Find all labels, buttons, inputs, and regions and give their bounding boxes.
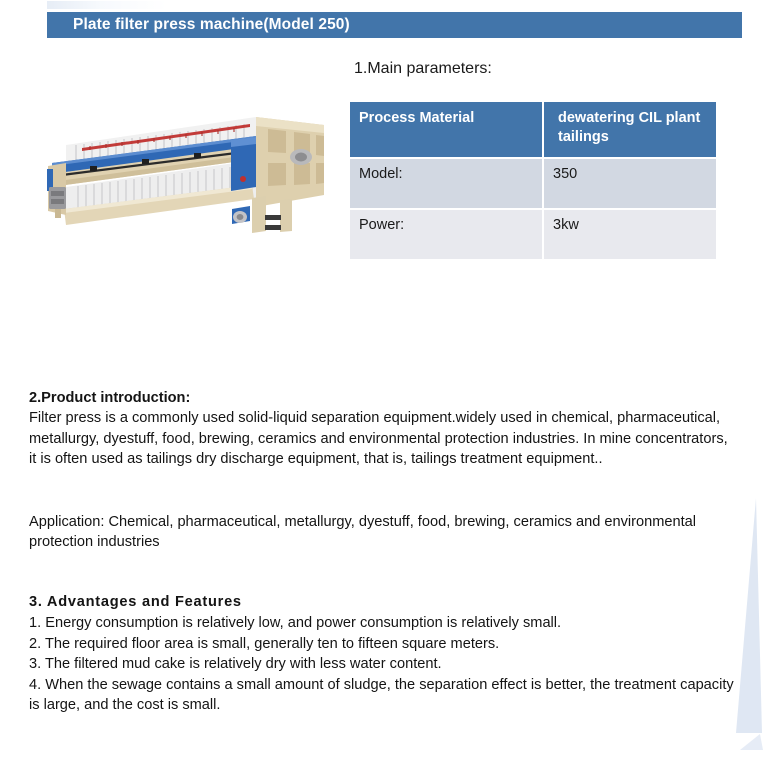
application-body: Application: Chemical, pharmaceutical, m… [29,514,696,550]
table-row: Power: 3kw [349,209,717,260]
table-header-dewatering-cil-plant-tailings: dewatering CIL plant tailings [543,101,717,158]
page-title: Plate filter press machine(Model 250) [73,16,350,34]
advantages-section: 3. Advantages and Features 1. Energy con… [29,592,735,715]
product-image [24,103,336,237]
product-introduction-section: 2.Product introduction: Filter press is … [29,388,729,470]
table-header-row: Process Material dewatering CIL plant ta… [349,101,717,158]
main-parameters-table: Process Material dewatering CIL plant ta… [348,100,718,261]
page-title-bar: Plate filter press machine(Model 250) [47,12,742,38]
table-cell-model-label: Model: [349,158,543,209]
table-cell-power-label: Power: [349,209,543,260]
table-cell-power-value: 3kw [543,209,717,260]
list-item: 3. The filtered mud cake is relatively d… [29,654,735,674]
application-section: Application: Chemical, pharmaceutical, m… [29,512,729,553]
table-cell-model-value: 350 [543,158,717,209]
list-item: 2. The required floor area is small, gen… [29,634,735,654]
product-introduction-title: 2.Product introduction: [29,388,729,408]
advantages-list: 1. Energy consumption is relatively low,… [29,613,735,715]
product-introduction-body: Filter press is a commonly used solid-li… [29,410,728,467]
advantages-title: 3. Advantages and Features [29,592,735,612]
table-header-process-material: Process Material [349,101,543,158]
filter-press-illustration [24,103,336,237]
header-top-artifact [47,1,167,9]
list-item: 4. When the sewage contains a small amou… [29,675,735,716]
list-item: 1. Energy consumption is relatively low,… [29,613,735,633]
main-parameters-heading: 1.Main parameters: [354,60,492,78]
table-row: Model: 350 [349,158,717,209]
